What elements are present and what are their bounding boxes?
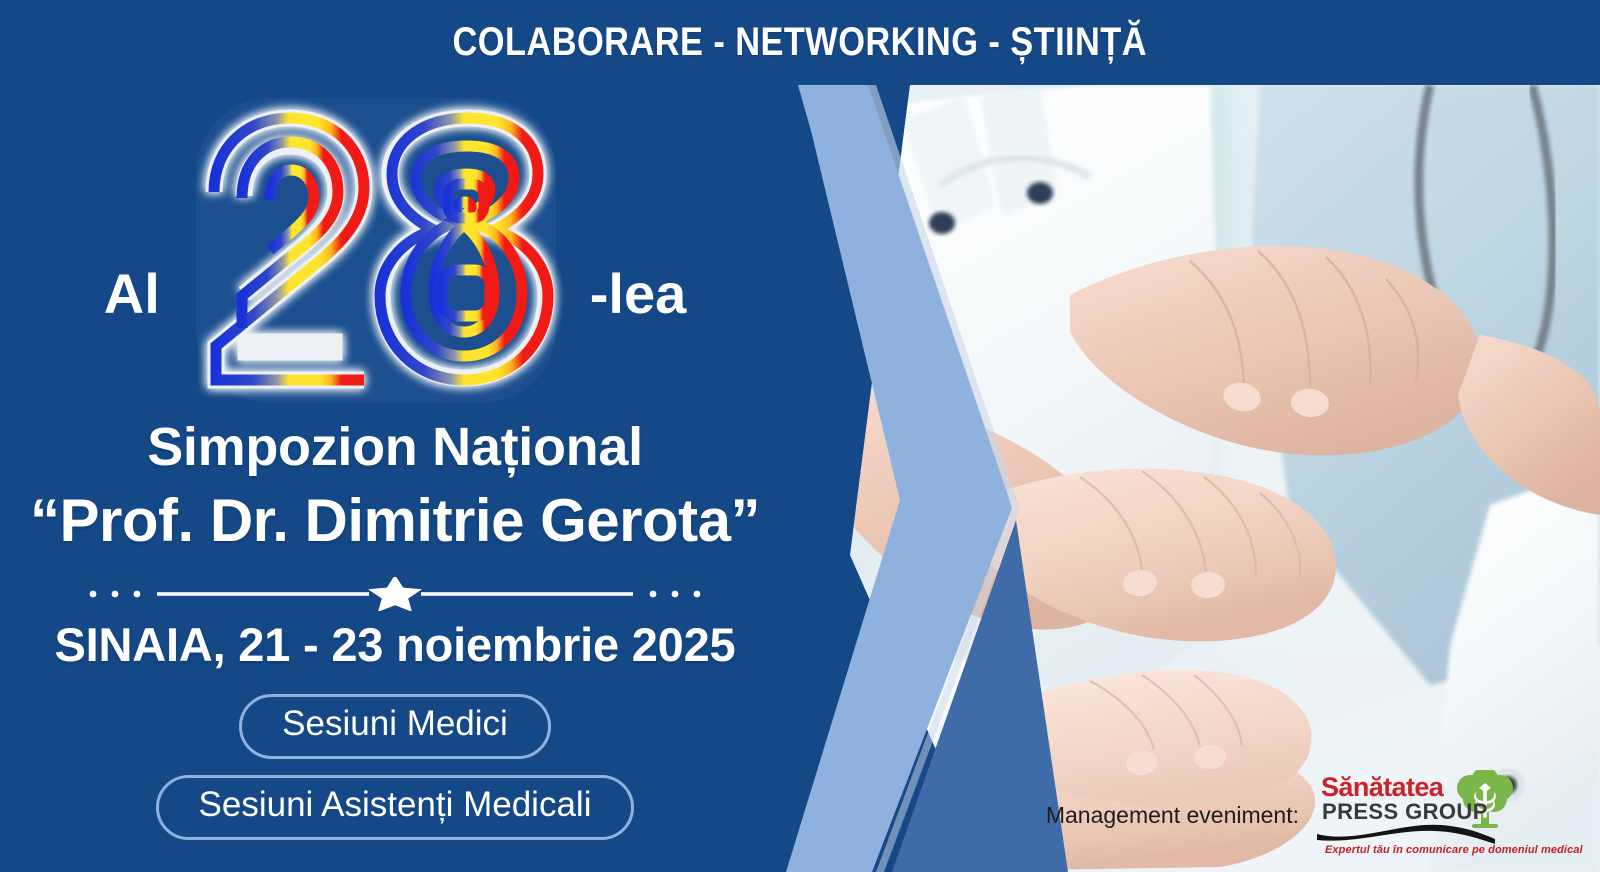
symposium-title-line2: “Prof. Dr. Dimitrie Gerota” (30, 486, 760, 555)
divider-dot (694, 591, 701, 598)
edition-logo-row: Al (0, 85, 790, 410)
session-button-asistenti[interactable]: Sesiuni Asistenți Medicali (156, 775, 635, 840)
symposium-title-line1: Simpozion Național (147, 416, 643, 478)
ordinal-suffix: -lea (590, 266, 687, 322)
location-date: SINAIA, 21 - 23 noiembrie 2025 (54, 617, 735, 672)
sanatatea-press-group-logo[interactable]: Sănătatea PRESS GROUP Expertul tău în co… (1317, 776, 1512, 854)
team-hands-photo (790, 85, 1600, 872)
logo-tagline: Expertul tău în comunicare pe domeniul m… (1325, 844, 1583, 856)
divider-dot (90, 591, 97, 598)
star-icon (368, 577, 422, 611)
ordinal-prefix: Al (104, 266, 160, 322)
divider-dot (650, 591, 657, 598)
event-management-credit: Management eveniment: (1046, 776, 1512, 854)
event-banner: COLABORARE - NETWORKING - ȘTIINȚĂ Al (0, 0, 1600, 872)
divider-dot (112, 591, 119, 598)
left-content-column: Al (0, 85, 790, 872)
ornament-divider (85, 577, 705, 611)
headline-text: COLABORARE - NETWORKING - ȘTIINȚĂ (453, 20, 1148, 65)
edition-number-logo (186, 88, 566, 408)
logo-brand-name: Sănătatea (1321, 774, 1443, 801)
credit-label: Management eveniment: (1046, 802, 1299, 829)
logo-brand-subtitle: PRESS GROUP (1322, 801, 1488, 823)
session-button-medici[interactable]: Sesiuni Medici (239, 694, 551, 759)
session-buttons: Sesiuni Medici Sesiuni Asistenți Medical… (156, 694, 635, 840)
headline-band: COLABORARE - NETWORKING - ȘTIINȚĂ (0, 0, 1600, 85)
divider-dot (134, 591, 141, 598)
divider-dot (672, 591, 679, 598)
